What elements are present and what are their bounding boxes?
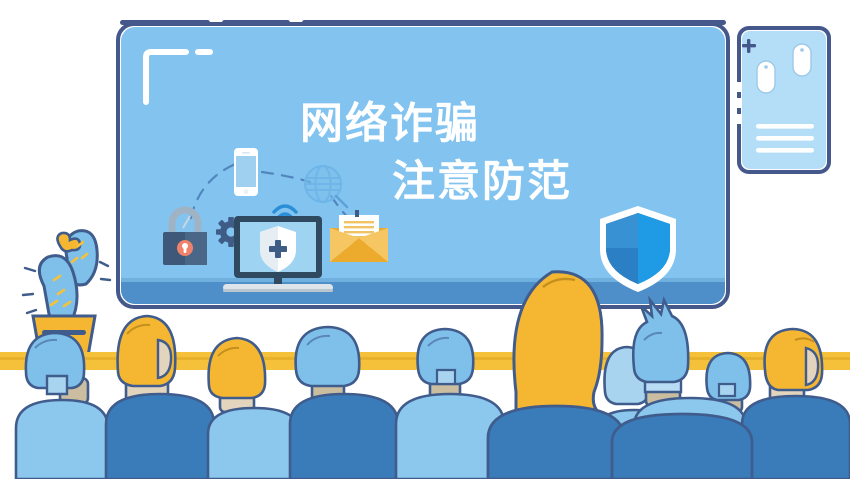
notice-text-lines (756, 124, 814, 153)
person-shoulders (488, 406, 624, 479)
person-shoulders (106, 394, 214, 479)
illustration-canvas: 网络诈骗 注意防范 (0, 0, 850, 479)
wall-notice-board[interactable] (737, 28, 829, 172)
person-shoulders (290, 394, 398, 479)
person-shoulders (742, 396, 850, 479)
laptop-hinge (274, 278, 282, 284)
poster-title-line2: 注意防范 (392, 157, 572, 207)
pinned-note[interactable] (757, 61, 775, 93)
pinned-note[interactable] (793, 44, 811, 76)
smartphone-icon (234, 148, 258, 196)
laptop-base-shadow (223, 289, 333, 292)
presentation-screen[interactable]: 网络诈骗 注意防范 (118, 24, 728, 307)
person-shoulders (612, 414, 752, 479)
person-shoulders (16, 400, 108, 479)
notice-board-dashed-edge (737, 82, 742, 124)
person-shoulders (208, 408, 300, 479)
audience-person (118, 316, 176, 403)
poster-title-line1: 网络诈骗 (300, 99, 480, 149)
